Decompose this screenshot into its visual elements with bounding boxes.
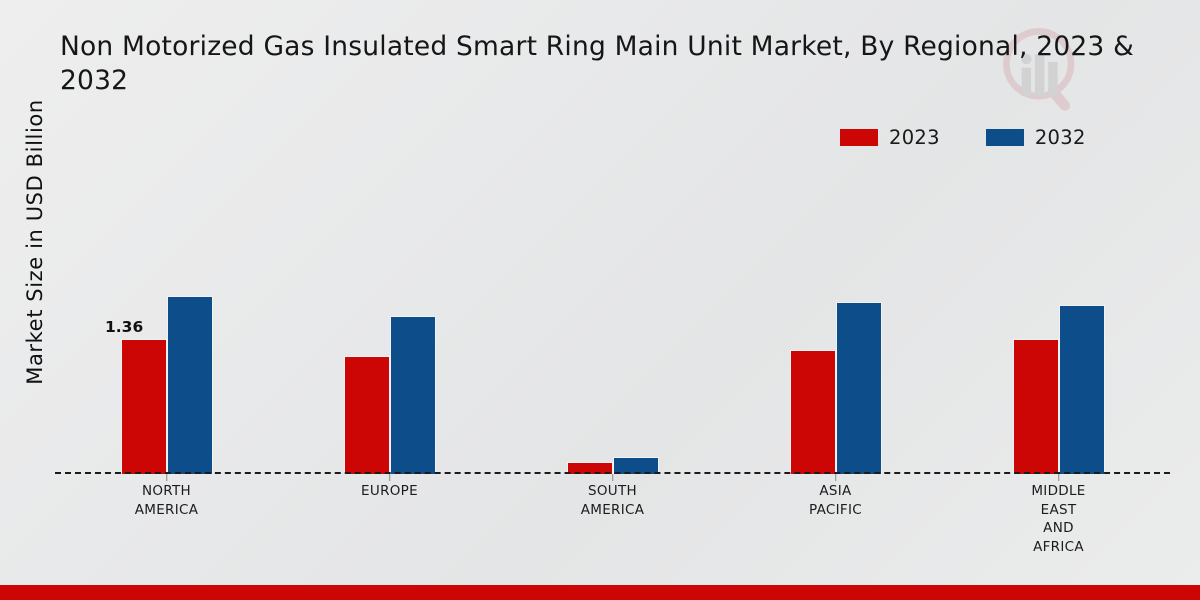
footer-accent-bar <box>0 585 1200 600</box>
bar-group-europe: EUROPE <box>306 150 473 474</box>
legend-label-2023: 2023 <box>889 126 940 149</box>
bar-asia-pacific-2023[interactable] <box>790 350 836 474</box>
x-axis-baseline <box>55 472 1170 474</box>
bar-group-asia-pacific: ASIA PACIFIC <box>752 150 919 474</box>
category-label-asia-pacific: ASIA PACIFIC <box>809 482 862 519</box>
legend-item-2032[interactable]: 2032 <box>986 126 1086 149</box>
axis-tick-south-america <box>612 474 614 481</box>
legend-item-2023[interactable]: 2023 <box>840 126 940 149</box>
bar-group-middle-east-and-africa: MIDDLE EAST AND AFRICA <box>975 150 1142 474</box>
chart-title: Non Motorized Gas Insulated Smart Ring M… <box>60 30 1200 99</box>
category-label-europe: EUROPE <box>361 482 418 501</box>
axis-tick-middle-east-and-africa <box>1058 474 1060 481</box>
bar-north-america-2023[interactable] <box>121 339 167 474</box>
legend-swatch-2032 <box>986 129 1024 146</box>
chart-canvas: Non Motorized Gas Insulated Smart Ring M… <box>0 0 1200 600</box>
bar-north-america-2032[interactable] <box>167 296 213 474</box>
bar-group-north-america: 1.36 NORTH AMERICA <box>83 150 250 474</box>
y-axis-title: Market Size in USD Billion <box>23 42 47 442</box>
bar-middle-east-and-africa-2032[interactable] <box>1059 305 1105 474</box>
bar-asia-pacific-2032[interactable] <box>836 302 882 474</box>
bar-group-south-america: SOUTH AMERICA <box>529 150 696 474</box>
category-label-north-america: NORTH AMERICA <box>135 482 199 519</box>
chart-legend: 2023 2032 <box>840 126 1086 149</box>
bar-middle-east-and-africa-2023[interactable] <box>1013 339 1059 474</box>
axis-tick-north-america <box>166 474 168 481</box>
axis-tick-europe <box>389 474 391 481</box>
bar-europe-2023[interactable] <box>344 356 390 474</box>
legend-swatch-2023 <box>840 129 878 146</box>
category-label-middle-east-and-africa: MIDDLE EAST AND AFRICA <box>1031 482 1085 557</box>
plot-area: 1.36 NORTH AMERICA EUROPE SOUTH AMERICA <box>55 150 1170 474</box>
category-label-south-america: SOUTH AMERICA <box>581 482 645 519</box>
value-label-north-america-2023: 1.36 <box>105 318 143 336</box>
legend-label-2032: 2032 <box>1035 126 1086 149</box>
bar-europe-2032[interactable] <box>390 316 436 474</box>
axis-tick-asia-pacific <box>835 474 837 481</box>
